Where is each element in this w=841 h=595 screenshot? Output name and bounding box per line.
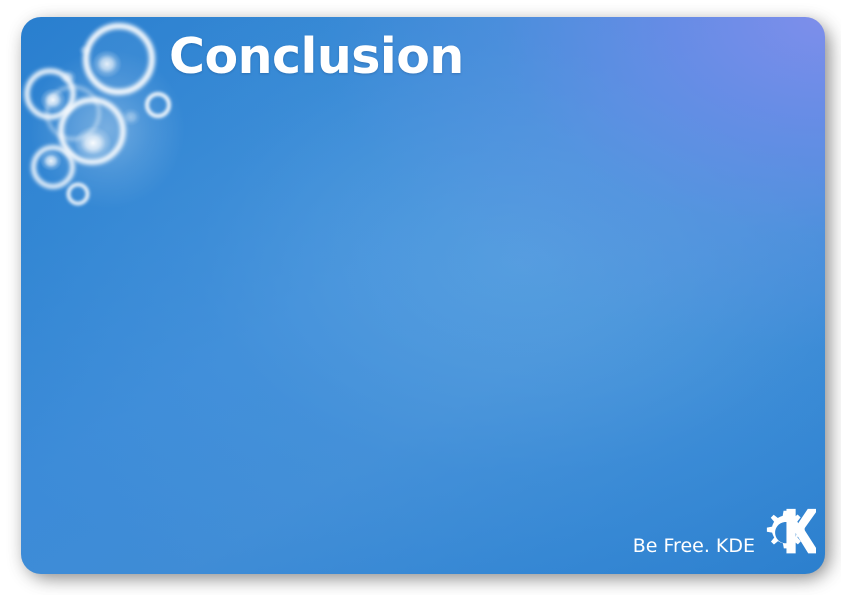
slide-title: Conclusion (169, 28, 464, 85)
presentation-slide: Conclusion Be Free. KDE (21, 17, 825, 574)
kde-gear-k-logo-icon (754, 503, 816, 565)
slide-stage: Conclusion Be Free. KDE (0, 0, 841, 595)
slide-content-body (81, 127, 765, 484)
footer-tagline: Be Free. KDE (633, 535, 755, 557)
